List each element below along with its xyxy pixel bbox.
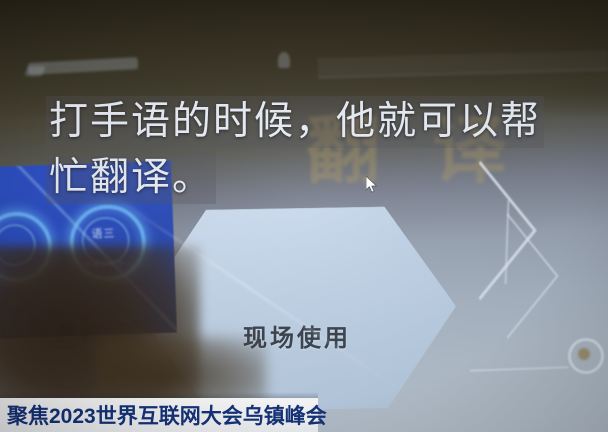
subtitle-line-1: 打手语的时候，他就可以帮	[46, 96, 544, 148]
broadcast-subtitle: 打手语的时候，他就可以帮 忙翻译。	[46, 96, 591, 208]
banner-headline: 聚焦2023世界互联网大会乌镇峰会	[0, 400, 327, 430]
ceiling-light-fixture	[24, 66, 45, 76]
mouse-cursor	[366, 176, 378, 193]
slide-node-core-icon	[578, 348, 590, 360]
subtitle-line-2: 忙翻译。	[46, 152, 216, 204]
status-ring-right-glyph: 语三	[91, 225, 116, 242]
broadcast-frame: 翻 译 现场使用 手语 语三 手语识别中 打手语的时候，他就可以帮 忙翻译。	[0, 0, 608, 432]
ceiling-speaker-fixture	[278, 52, 290, 68]
news-lower-third-banner: 聚焦2023世界互联网大会乌镇峰会	[0, 398, 318, 432]
